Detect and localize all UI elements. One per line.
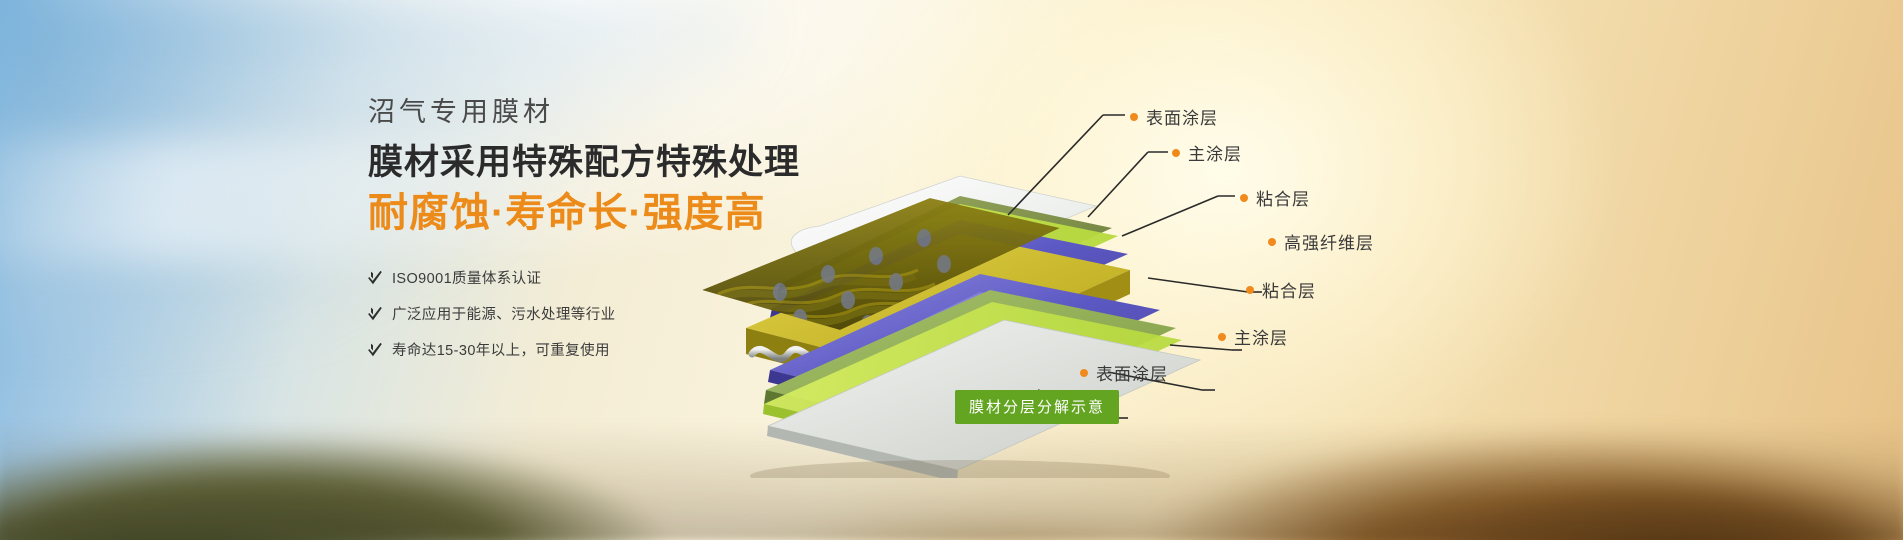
callout-leader-lines	[0, 0, 1903, 540]
diagram-caption-badge: 膜材分层分解示意	[955, 390, 1119, 424]
membrane-product-banner: 沼气专用膜材 膜材采用特殊配方特殊处理 耐腐蚀·寿命长·强度高 ISO9001质…	[0, 0, 1903, 540]
